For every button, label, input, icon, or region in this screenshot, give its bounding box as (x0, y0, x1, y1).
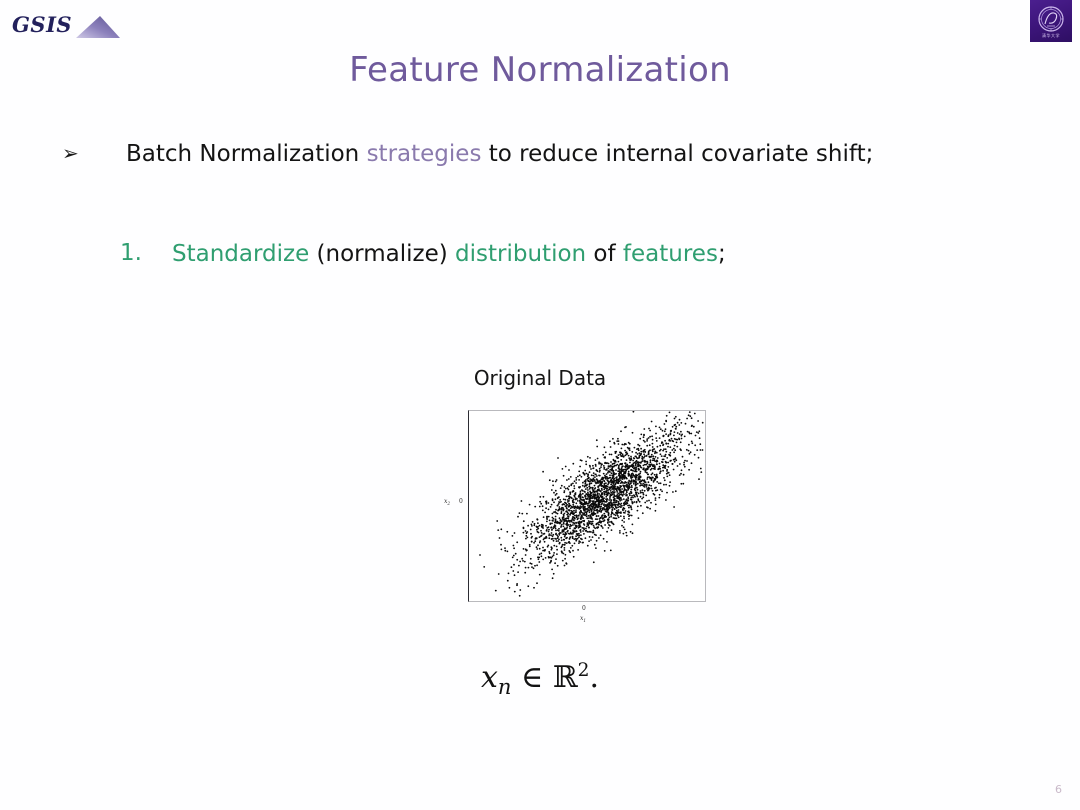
bullet-item-text: Batch Normalization strategies to reduce… (126, 140, 873, 169)
numbered-text-part2: of (586, 241, 623, 267)
numbered-item-text: Standardize (normalize) distribution of … (172, 240, 726, 269)
numbered-text-part3: ; (718, 241, 726, 267)
seal-caption: 清华大学 (1034, 33, 1068, 39)
numbered-highlight-distribution: distribution (455, 241, 586, 267)
gsis-logo: GSIS (12, 6, 162, 50)
numbered-highlight-features: features (623, 241, 718, 267)
page-title: Feature Normalization (0, 50, 1080, 90)
scatter-plot: x2 0 0 x1 (420, 410, 660, 602)
formula-period: . (590, 660, 600, 695)
gsis-logo-text: GSIS (12, 12, 72, 37)
university-seal-icon: 清华大学 (1034, 4, 1068, 38)
triangle-mountain-icon (74, 15, 122, 39)
plot-frame (468, 410, 706, 602)
formula-variable: x (481, 660, 498, 695)
numbered-text-part1: (normalize) (309, 241, 455, 267)
scatter-points (469, 411, 705, 601)
formula-subscript: n (498, 675, 512, 699)
formula-exponent: 2 (578, 660, 590, 681)
slide-canvas: GSIS (0, 0, 1080, 810)
bullet-text-part2: to reduce internal covariate shift; (481, 141, 873, 167)
numbered-item: 1. Standardize (normalize) distribution … (120, 240, 726, 269)
bullet-text-highlight: strategies (367, 141, 482, 167)
figure-original-data: Original Data x2 0 0 x1 (360, 366, 720, 602)
university-seal: 清华大学 (1030, 0, 1072, 42)
numbered-highlight-standardize: Standardize (172, 241, 309, 267)
arrow-bullet-icon: ➢ (62, 140, 126, 166)
list-number: 1. (120, 240, 172, 266)
bullet-item: ➢ Batch Normalization strategies to redu… (62, 140, 873, 169)
figure-caption: Original Data (360, 366, 720, 390)
bullet-text-part1: Batch Normalization (126, 141, 367, 167)
y-axis-label: x2 (444, 498, 450, 506)
x-axis-label: x1 (580, 615, 586, 623)
page-number: 6 (1055, 783, 1062, 796)
formula-xn-in-r2: xn ∈ ℝ2. (0, 660, 1080, 699)
formula-member-symbol: ∈ (521, 660, 543, 695)
formula-real-symbol: ℝ (553, 660, 578, 695)
x-axis-tick: 0 (582, 605, 586, 612)
y-axis-tick: 0 (459, 498, 463, 505)
